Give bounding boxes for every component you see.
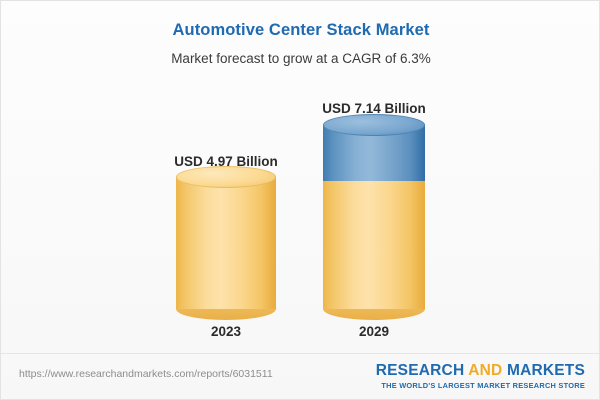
- category-label-2029: 2029: [359, 324, 389, 339]
- brand-logo[interactable]: RESEARCH AND MARKETS THE WORLD'S LARGEST…: [376, 362, 585, 390]
- source-url[interactable]: https://www.researchandmarkets.com/repor…: [19, 368, 273, 380]
- brand-name-part2: MARKETS: [502, 362, 585, 379]
- brand-tagline: THE WORLD'S LARGEST MARKET RESEARCH STOR…: [376, 381, 585, 390]
- brand-name-part1: RESEARCH: [376, 362, 469, 379]
- cylinder-top-cap: [323, 114, 425, 136]
- chart-card: Automotive Center Stack Market Market fo…: [0, 0, 600, 400]
- cylinder-2023[interactable]: [176, 177, 276, 309]
- bar-segment-base-2029: [323, 181, 425, 309]
- category-label-2023: 2023: [211, 324, 241, 339]
- bar-segment-base-2023: [176, 177, 276, 309]
- plot-area: USD 4.97 Billion 2023 USD 7.14 Billion: [1, 1, 600, 353]
- cylinder-2029[interactable]: [323, 125, 425, 309]
- cylinder-body: [176, 177, 276, 309]
- brand-name: RESEARCH AND MARKETS: [376, 362, 585, 379]
- cylinder-top-cap: [176, 166, 276, 188]
- bar-segment-growth-2029: [323, 125, 425, 181]
- footer: https://www.researchandmarkets.com/repor…: [1, 354, 600, 400]
- brand-name-and: AND: [468, 362, 502, 379]
- cylinder-body: [323, 181, 425, 309]
